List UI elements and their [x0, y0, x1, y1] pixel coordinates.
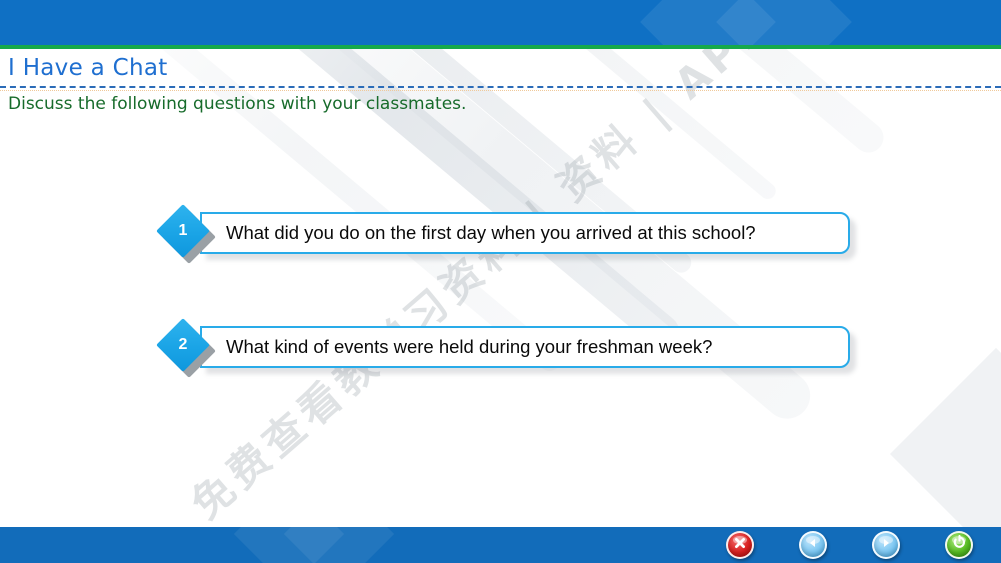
question-text: What kind of events were held during you…: [226, 336, 712, 358]
header-bar: [0, 0, 1001, 45]
prev-button[interactable]: [799, 531, 827, 559]
close-icon: [733, 536, 747, 555]
question-number: 1: [164, 212, 202, 250]
watermark-stripe: [128, 0, 686, 356]
arrow-right-icon: [879, 536, 893, 555]
question-box[interactable]: What kind of events were held during you…: [200, 326, 850, 368]
header-underline: [0, 45, 1001, 49]
next-button[interactable]: [872, 531, 900, 559]
question-row: What did you do on the first day when yo…: [162, 212, 862, 256]
question-row: What kind of events were held during you…: [162, 326, 862, 370]
watermark-text: 免费查看教学习资料 | 资料 | APP: [176, 0, 781, 530]
section-divider-accent: [0, 90, 1001, 91]
section-instruction: Discuss the following questions with you…: [8, 94, 466, 114]
close-button[interactable]: [726, 531, 754, 559]
question-number: 2: [164, 326, 202, 364]
slide-canvas: 免费查看教学习资料 | 资料 | APP Part One Warming-up…: [0, 0, 1001, 563]
watermark-layer: 免费查看教学习资料 | 资料 | APP: [0, 0, 1001, 563]
section-title: I Have a Chat: [8, 55, 168, 81]
reload-button[interactable]: [945, 531, 973, 559]
section-divider: [0, 86, 1001, 88]
reload-icon: [952, 535, 967, 555]
question-text: What did you do on the first day when yo…: [226, 222, 756, 244]
header-chevron-decoration: [716, 0, 852, 45]
footer-bar: [0, 527, 1001, 563]
arrow-left-icon: [806, 536, 820, 555]
question-box[interactable]: What did you do on the first day when yo…: [200, 212, 850, 254]
